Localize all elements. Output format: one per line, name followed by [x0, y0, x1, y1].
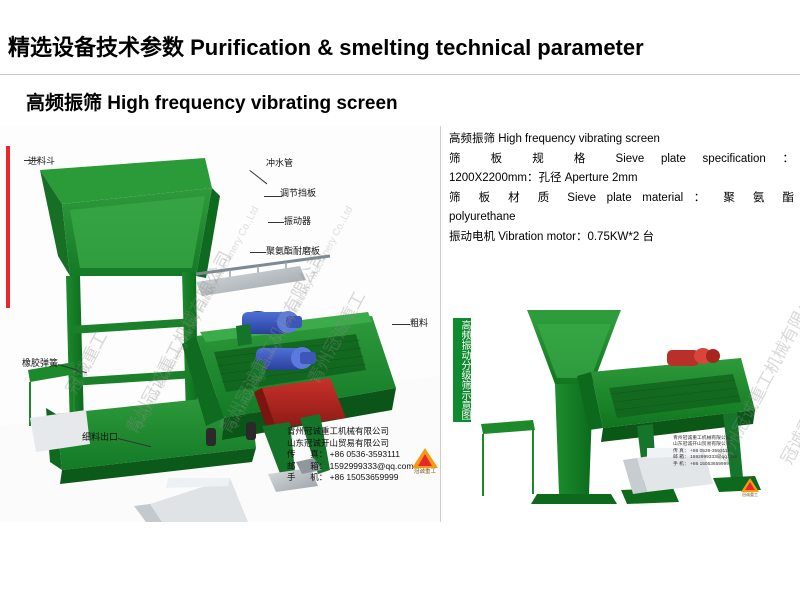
spec-vibration-motor: 振动电机 Vibration motor：0.75KW*2 台	[449, 228, 794, 248]
contact-mail-value: 1592999333@qq.com	[690, 455, 737, 460]
contact-fax-label2: 真：	[310, 449, 327, 459]
contact-mail-label: 邮	[287, 461, 296, 471]
contact-fax-label2: 真：	[679, 449, 689, 454]
company-logo: 冠诚重工	[412, 448, 438, 484]
callout-water-spray-pipe: 冲水管	[266, 156, 293, 169]
callout-adjust-plate: 调节挡板	[280, 186, 316, 199]
leader-line	[264, 196, 282, 197]
logo-caption: 冠诚重工	[741, 493, 759, 498]
company-logo-mini: 冠诚重工	[741, 478, 759, 502]
callout-vibrator: 振动器	[284, 214, 311, 227]
contact-fax-value: +86 0536-3593111	[330, 449, 400, 459]
page-subtitle: 高频振筛 High frequency vibrating screen	[26, 88, 726, 115]
leader-line	[268, 222, 284, 223]
callout-rubber-spring: 橡胶弹簧	[22, 356, 58, 369]
spec-text-block: 高频振筛 High frequency vibrating screen 筛 板…	[449, 130, 794, 247]
contact-phone-label2: 机：	[310, 472, 327, 482]
contact-phone-value: +86 15053659999	[330, 472, 399, 482]
contact-mail-label: 邮	[673, 455, 678, 460]
callout-coarse-material: 粗料	[410, 316, 428, 329]
contact-phone-label: 手	[673, 462, 678, 467]
contact-fax-label: 传	[673, 449, 678, 454]
spec-heading: 高频振筛 High frequency vibrating screen	[449, 130, 794, 150]
leader-line	[250, 252, 266, 253]
contact-block-mini: 青州冠诚重工机械有限公司 山东冠诚开山贸易有限公司 传 真： +86 0536-…	[673, 436, 793, 468]
contact-mail-label2: 箱：	[679, 455, 689, 460]
leader-line	[392, 324, 410, 325]
contact-fax-label: 传	[287, 449, 296, 459]
logo-caption: 冠诚重工	[412, 469, 438, 475]
contact-mail-label2: 箱：	[310, 461, 327, 471]
contact-company-cn: 青州冠诚重工机械有限公司	[287, 426, 437, 438]
spec-sieve-plate-specification-label: 筛 板 规 格 Sieve plate specification ：	[449, 150, 794, 170]
callout-polyurethane-wear-plate: 聚氨酯耐磨板	[266, 244, 320, 257]
schematic-diagram-right: 高频振动分级筛示意图 青州冠诚重工机械有限公司 冠诚重工 青州冠诚重工机械有限公…	[441, 306, 800, 522]
contact-phone-label: 手	[287, 472, 296, 482]
callout-fine-material-outlet: 细料出口	[82, 430, 118, 443]
spec-sieve-plate-material-value: polyurethane	[449, 208, 794, 228]
leader-line	[24, 160, 38, 161]
diagram-vertical-label: 高频振动分级筛示意图	[453, 318, 471, 422]
contact-mail-value: 1592999333@qq.com	[330, 461, 414, 471]
contact-phone-line: 手 机： +86 15053659999	[673, 462, 793, 468]
document-page: 精选设备技术参数 Purification & smelting technic…	[0, 0, 800, 600]
contact-fax-value: +86 0536-3593111	[690, 449, 730, 454]
equipment-render-left: 进料斗 冲水管 调节挡板 振动器 聚氨酯耐磨板 粗料 橡胶弹簧 细料出口 青州冠…	[0, 126, 440, 522]
page-title: 精选设备技术参数 Purification & smelting technic…	[8, 30, 788, 62]
contact-phone-value: +86 15053659999	[690, 462, 729, 467]
spec-panel-right: 高频振筛 High frequency vibrating screen 筛 板…	[441, 126, 800, 522]
title-divider	[0, 74, 800, 75]
contact-phone-label2: 机：	[679, 462, 689, 467]
logo-triangle-inner-icon	[745, 482, 755, 490]
spec-sieve-plate-specification-value: 1200X2200mm：孔径 Aperture 2mm	[449, 169, 794, 189]
spec-sieve-plate-material-label: 筛 板 材 质 Sieve plate material ： 聚 氨 酯	[449, 189, 794, 209]
logo-triangle-inner-icon	[418, 454, 432, 466]
